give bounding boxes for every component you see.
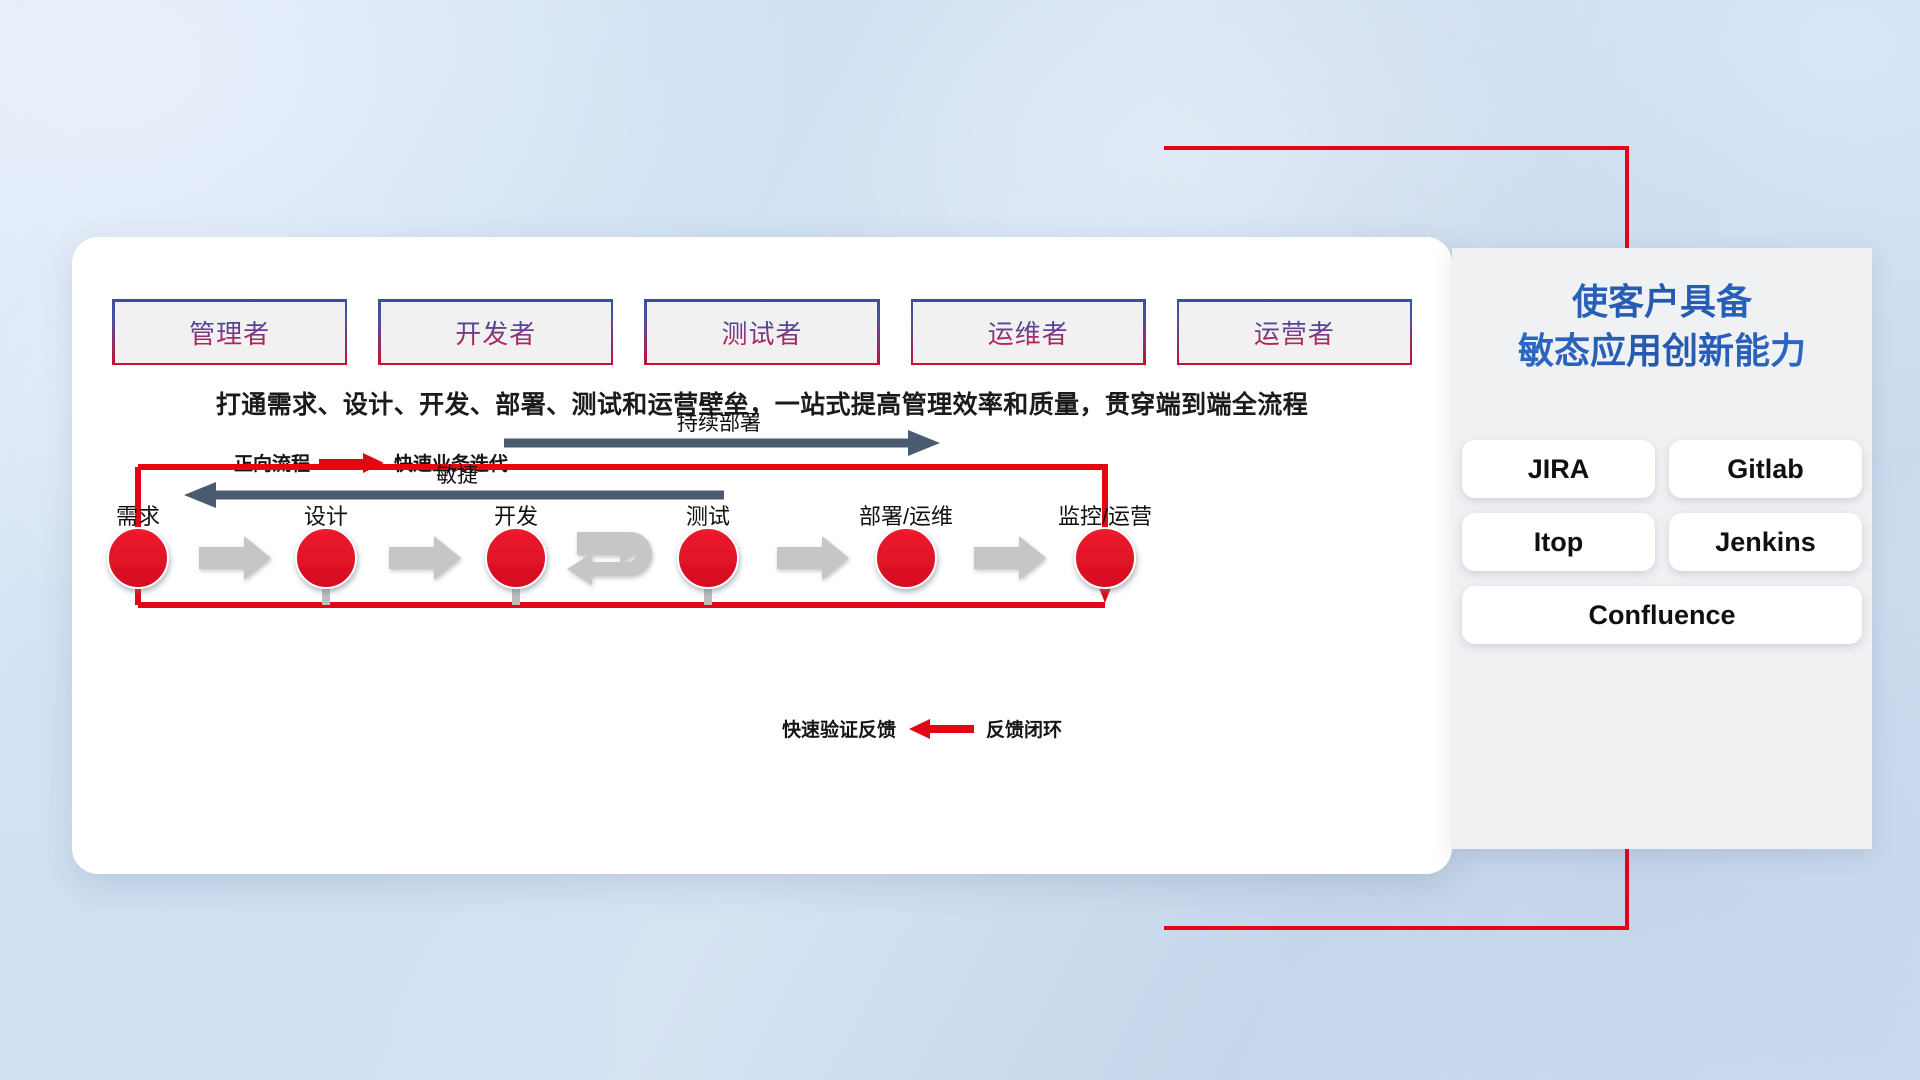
tool-tag-itop[interactable]: Itop (1462, 513, 1655, 571)
role-badge-operations[interactable]: 运营者 (1177, 299, 1412, 365)
role-badge-row: 管理者 开发者 测试者 运维者 运营者 (112, 299, 1412, 365)
tool-tag-jira[interactable]: JIRA (1462, 440, 1655, 498)
connector-arrow-5 (974, 536, 1046, 580)
stage-node-design[interactable]: 设计 (296, 504, 356, 588)
stage-label: 监控/运营 (1058, 504, 1152, 529)
iteration-loop-arrow (567, 532, 652, 585)
right-panel-title: 使客户具备 敏态应用创新能力 (1452, 278, 1872, 376)
connector-arrow-1 (199, 536, 271, 580)
role-label: 运维者 (988, 314, 1069, 351)
connector-arrow-4 (777, 536, 849, 580)
stage-node-develop[interactable]: 开发 (486, 504, 546, 588)
stage-label: 需求 (116, 504, 160, 529)
role-label: 管理者 (189, 314, 270, 351)
stage-label: 测试 (686, 504, 730, 529)
role-label: 开发者 (455, 314, 536, 351)
right-tools-panel: 使客户具备 敏态应用创新能力 JIRA Gitlab Itop Jenkins … (1452, 248, 1872, 849)
span-arrow-caption-continuous-deploy: 持续部署 (677, 412, 761, 435)
tool-tag-jenkins[interactable]: Jenkins (1669, 513, 1862, 571)
stage-node-test[interactable]: 测试 (678, 504, 738, 588)
role-badge-manager[interactable]: 管理者 (112, 299, 347, 365)
stage-label: 部署/运维 (859, 504, 953, 529)
role-badge-tester[interactable]: 测试者 (644, 299, 879, 365)
span-arrow-caption-agile: 敏捷 (436, 464, 478, 487)
tool-tag-confluence[interactable]: Confluence (1462, 586, 1862, 644)
role-badge-developer[interactable]: 开发者 (378, 299, 613, 365)
right-panel-title-line-2: 敏态应用创新能力 (1452, 327, 1872, 376)
connector-arrow-2 (389, 536, 461, 580)
tool-tag-gitlab[interactable]: Gitlab (1669, 440, 1862, 498)
right-panel-title-line-1: 使客户具备 (1452, 278, 1872, 327)
main-card: 管理者 开发者 测试者 运维者 运营者 打通需求、设计、开发、部署、测试和运营壁… (72, 237, 1452, 874)
stage-node-monitor-operate[interactable]: 监控/运营 (1058, 504, 1152, 588)
role-badge-ops[interactable]: 运维者 (911, 299, 1146, 365)
tool-tag-grid: JIRA Gitlab Itop Jenkins Confluence (1462, 440, 1862, 644)
role-label: 运营者 (1254, 314, 1335, 351)
stage-label: 开发 (494, 504, 538, 529)
stage-node-deploy-ops[interactable]: 部署/运维 (859, 504, 953, 588)
stage-label: 设计 (304, 504, 348, 529)
role-label: 测试者 (722, 314, 803, 351)
stage-node-requirement[interactable]: 需求 (108, 504, 168, 588)
